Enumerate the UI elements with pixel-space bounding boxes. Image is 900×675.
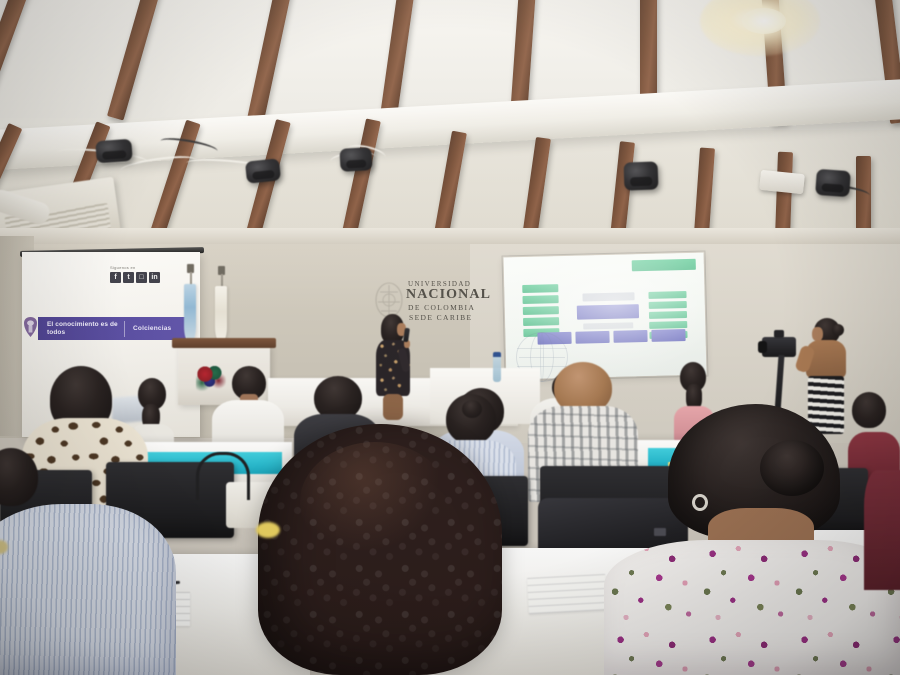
facebook-icon: f xyxy=(110,272,121,283)
hoop-earring-icon xyxy=(692,494,708,511)
banner-social-icons: f t □ in xyxy=(110,272,162,283)
camera-lens-icon xyxy=(758,341,767,353)
water-bottle xyxy=(493,356,501,382)
par-can-light-2 xyxy=(245,158,281,183)
videographer-face xyxy=(812,327,823,341)
university-logo-line-2: NACIONAL xyxy=(406,287,491,303)
attendee-right-edge xyxy=(864,470,900,590)
par-can-light-3 xyxy=(339,147,372,172)
document-papers-2 xyxy=(527,574,607,614)
banner-slogan-text: El conocimiento es de todos xyxy=(38,321,124,336)
attendee-hair-bun xyxy=(760,440,824,496)
handbag-strap xyxy=(196,452,250,500)
attendee-hair-bun xyxy=(462,400,482,418)
colombia-shield-icon xyxy=(22,316,39,340)
attendee-floral-blouse-foreground xyxy=(612,404,900,675)
attendee-striped-shirt xyxy=(0,504,176,675)
conference-room-photo: Siguenos en f t □ in El conocimiento es … xyxy=(0,0,900,675)
ceiling-lamp xyxy=(742,8,786,34)
presenter-legs xyxy=(383,394,403,420)
camera-top-mic xyxy=(774,330,784,338)
attendee-striped-shirt-foreground xyxy=(0,504,176,675)
twitter-icon: t xyxy=(123,272,134,283)
banner-purple-bar: El conocimiento es de todos Colciencias xyxy=(38,317,186,340)
par-can-light-1 xyxy=(95,139,132,163)
par-can-light-5 xyxy=(815,169,851,197)
flag-colombia-blue xyxy=(184,284,196,342)
linkedin-icon: in xyxy=(149,272,160,283)
attendee-curly-hair-highlight xyxy=(300,442,450,562)
university-logo-line-4: SEDE CARIBE xyxy=(409,313,473,322)
par-can-light-4 xyxy=(624,161,659,190)
podium-top-edge xyxy=(172,338,276,348)
attendee-floral-blouse xyxy=(604,540,900,675)
instagram-icon: □ xyxy=(136,272,147,283)
water-bottle-cap xyxy=(493,352,501,357)
wall-cornice xyxy=(0,228,900,244)
banner-organization-text: Colciencias xyxy=(125,325,171,332)
scrunchie-accessory xyxy=(256,522,280,538)
flag-white xyxy=(215,286,227,342)
videographer-hair-bun xyxy=(832,324,844,336)
screen-light-glow xyxy=(504,253,707,380)
banner-social-label: Siguenos en xyxy=(110,265,136,270)
university-logo-line-3: DE COLOMBIA xyxy=(408,303,475,312)
